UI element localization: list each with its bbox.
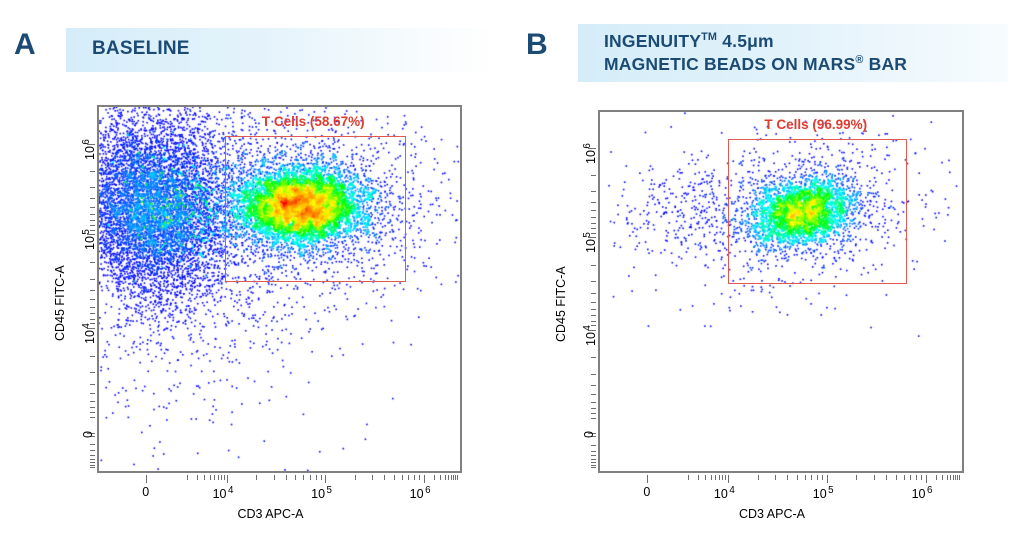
y-tick-mark: [591, 451, 596, 452]
x-tick-mark: [921, 475, 922, 480]
x-tick-mark: [886, 475, 887, 480]
x-tick-mark: [218, 475, 219, 480]
y-tick-mark: [90, 372, 95, 373]
x-tick-label: 0: [643, 485, 650, 499]
y-tick-mark: [591, 223, 596, 224]
x-tick-mark: [947, 475, 948, 480]
x-axis-title-b: CD3 APC-A: [739, 507, 805, 521]
y-tick-mark: [90, 187, 95, 188]
y-tick-mark: [90, 299, 95, 300]
x-tick-mark: [451, 475, 452, 480]
x-tick-mark: [705, 475, 706, 480]
x-tick-mark: [402, 475, 403, 480]
x-tick-mark: [187, 475, 188, 480]
y-tick-mark: [591, 357, 596, 358]
panel-b-title-line1: INGENUITYTM 4.5μm: [604, 30, 907, 53]
x-tick-mark: [434, 475, 435, 480]
x-tick-mark: [874, 475, 875, 480]
scatter-density-a: [99, 107, 460, 471]
x-tick-mark: [926, 475, 927, 483]
y-tick-mark: [90, 465, 95, 466]
y-tick-label: 105: [81, 229, 97, 250]
x-tick-mark: [955, 475, 956, 480]
x-tick-mark: [295, 475, 296, 480]
x-tick-mark: [787, 475, 788, 480]
panel-letter-b: B: [526, 30, 548, 60]
y-tick-mark: [591, 413, 596, 414]
y-tick-mark: [90, 450, 95, 451]
y-axis-title-a: CD45 FITC-A: [53, 265, 67, 341]
x-tick-mark: [953, 475, 954, 480]
y-tick-mark: [90, 467, 95, 468]
x-tick-mark: [896, 475, 897, 480]
x-tick-label: 0: [142, 485, 149, 499]
y-tick-mark: [591, 374, 596, 375]
y-tick-mark: [591, 228, 596, 229]
panel-a-title-banner: BASELINE: [66, 28, 496, 72]
x-tick-mark: [916, 475, 917, 480]
x-tick-mark: [424, 475, 425, 483]
x-tick-mark: [722, 475, 723, 480]
x-tick-mark: [321, 475, 322, 480]
y-tick-label: 104: [582, 325, 598, 346]
y-tick-mark: [90, 444, 95, 445]
panel-b-title-line2: MAGNETIC BEADS ON MARS® BAR: [604, 53, 907, 76]
x-tick-mark: [445, 475, 446, 480]
y-tick-mark: [90, 393, 95, 394]
x-tick-mark: [214, 475, 215, 480]
y-tick-mark: [90, 401, 95, 402]
x-tick-mark: [256, 475, 257, 480]
y-tick-mark: [591, 202, 596, 203]
x-tick-mark: [286, 475, 287, 480]
x-tick-mark: [408, 475, 409, 480]
y-tick-mark: [591, 281, 596, 282]
x-tick-mark: [728, 475, 729, 483]
panel-b-title-banner: INGENUITYTM 4.5μm MAGNETIC BEADS ON MARS…: [578, 24, 1008, 82]
y-tick-mark: [90, 417, 95, 418]
y-tick-mark: [591, 265, 596, 266]
y-tick-mark: [591, 175, 596, 176]
y-tick-mark: [90, 462, 95, 463]
y-tick-mark: [591, 418, 596, 419]
y-tick-mark: [591, 191, 596, 192]
x-tick-label: 106: [912, 485, 933, 501]
y-tick-mark: [591, 467, 596, 468]
x-tick-mark: [414, 475, 415, 480]
scatter-plot-a[interactable]: [97, 105, 462, 473]
x-tick-mark: [457, 475, 458, 480]
x-tick-mark: [146, 475, 147, 483]
y-tick-mark: [90, 290, 95, 291]
x-tick-mark: [204, 475, 205, 480]
x-tick-mark: [797, 475, 798, 480]
y-tick-mark: [591, 217, 596, 218]
x-tick-mark: [310, 475, 311, 480]
x-tick-mark: [775, 475, 776, 480]
y-tick-mark: [591, 302, 596, 303]
y-tick-mark: [591, 445, 596, 446]
y-tick-mark: [90, 262, 95, 263]
x-tick-mark: [384, 475, 385, 480]
y-tick-mark: [591, 459, 596, 460]
trademark-icon: TM: [701, 31, 717, 43]
x-tick-mark: [959, 475, 960, 480]
x-tick-label: 105: [813, 485, 834, 501]
y-tick-label: 105: [582, 232, 598, 253]
y-tick-mark: [90, 412, 95, 413]
y-tick-label: 0: [582, 431, 596, 438]
x-tick-mark: [210, 475, 211, 480]
x-tick-mark: [725, 475, 726, 480]
x-axis-title-a: CD3 APC-A: [238, 507, 304, 521]
y-tick-mark: [591, 293, 596, 294]
x-tick-mark: [227, 475, 228, 483]
y-tick-mark: [90, 459, 95, 460]
y-tick-label: 0: [81, 431, 95, 438]
x-tick-mark: [325, 475, 326, 483]
x-tick-mark: [910, 475, 911, 480]
y-tick-mark: [591, 315, 596, 316]
gate-label-a: T Cells (58.67%): [223, 114, 404, 129]
y-tick-mark: [90, 455, 95, 456]
x-tick-mark: [950, 475, 951, 480]
x-tick-mark: [698, 475, 699, 480]
y-tick-mark: [90, 407, 95, 408]
y-tick-mark: [90, 313, 95, 314]
x-tick-mark: [811, 475, 812, 480]
y-tick-mark: [591, 455, 596, 456]
x-tick-mark: [719, 475, 720, 480]
panel-a-title: BASELINE: [92, 38, 190, 60]
x-tick-mark: [355, 475, 356, 480]
y-tick-mark: [591, 394, 596, 395]
x-tick-mark: [822, 475, 823, 480]
x-tick-mark: [448, 475, 449, 480]
x-tick-mark: [316, 475, 317, 480]
y-tick-mark: [90, 307, 95, 308]
y-tick-mark: [591, 465, 596, 466]
gate-label-b: T Cells (96.99%): [726, 117, 905, 132]
y-tick-mark: [591, 385, 596, 386]
x-tick-label: 105: [311, 485, 332, 501]
x-tick-mark: [224, 475, 225, 480]
y-tick-mark: [591, 321, 596, 322]
y-tick-mark: [591, 309, 596, 310]
x-tick-mark: [221, 475, 222, 480]
y-tick-label: 106: [582, 143, 598, 164]
y-tick-mark: [90, 207, 95, 208]
y-tick-mark: [90, 214, 95, 215]
x-tick-mark: [419, 475, 420, 480]
panel-baseline: A BASELINE T Cells (58.67%) CD3 APC-A CD…: [0, 0, 512, 546]
x-tick-mark: [453, 475, 454, 480]
x-tick-mark: [856, 475, 857, 480]
registered-icon: ®: [855, 54, 863, 66]
y-tick-mark: [90, 198, 95, 199]
x-tick-mark: [827, 475, 828, 483]
x-tick-mark: [711, 475, 712, 480]
y-tick-mark: [90, 220, 95, 221]
y-tick-mark: [591, 210, 596, 211]
panel-letter-a: A: [14, 30, 36, 60]
panel-ingenuity-beads: B INGENUITYTM 4.5μm MAGNETIC BEADS ON MA…: [512, 0, 1024, 546]
x-tick-mark: [817, 475, 818, 480]
y-tick-mark: [90, 225, 95, 226]
scatter-density-b: [600, 112, 962, 471]
x-tick-mark: [904, 475, 905, 480]
y-tick-label: 104: [81, 323, 97, 344]
x-tick-mark: [372, 475, 373, 480]
y-tick-mark: [591, 408, 596, 409]
x-tick-label: 104: [213, 485, 234, 501]
y-tick-mark: [90, 384, 95, 385]
x-tick-mark: [274, 475, 275, 480]
y-tick-mark: [591, 402, 596, 403]
x-tick-mark: [394, 475, 395, 480]
y-tick-mark: [90, 279, 95, 280]
y-tick-label: 106: [81, 139, 97, 160]
y-tick-mark: [591, 462, 596, 463]
x-tick-label: 106: [410, 485, 431, 501]
y-tick-mark: [90, 319, 95, 320]
y-tick-mark: [90, 356, 95, 357]
panel-b-title: INGENUITYTM 4.5μm MAGNETIC BEADS ON MARS…: [604, 30, 907, 76]
x-tick-mark: [197, 475, 198, 480]
x-tick-mark: [688, 475, 689, 480]
x-tick-mark: [936, 475, 937, 480]
x-tick-mark: [647, 475, 648, 483]
x-tick-mark: [805, 475, 806, 480]
y-axis-title-b: CD45 FITC-A: [554, 267, 568, 343]
x-tick-mark: [440, 475, 441, 480]
y-tick-mark: [90, 171, 95, 172]
x-tick-mark: [942, 475, 943, 480]
x-tick-mark: [758, 475, 759, 480]
flow-cytometry-figure: A BASELINE T Cells (58.67%) CD3 APC-A CD…: [0, 0, 1024, 546]
scatter-plot-b[interactable]: [598, 110, 964, 473]
x-tick-mark: [715, 475, 716, 480]
x-tick-label: 104: [714, 485, 735, 501]
x-tick-mark: [303, 475, 304, 480]
